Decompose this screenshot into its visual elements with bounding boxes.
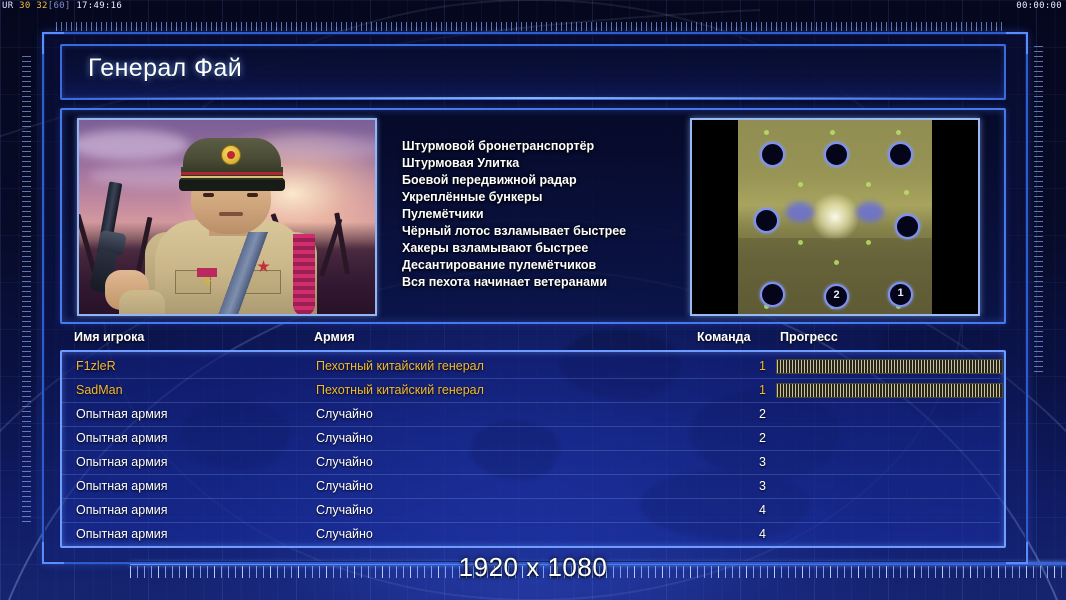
player-army: Случайно bbox=[316, 522, 373, 546]
portrait-aiguillette bbox=[293, 234, 315, 316]
system-clock: 17:49:16 bbox=[76, 1, 122, 11]
player-team: 1 bbox=[742, 354, 766, 378]
player-army: Случайно bbox=[316, 474, 373, 498]
portrait-hat-stripe bbox=[181, 176, 283, 178]
map-start-position[interactable]: 1 bbox=[888, 282, 913, 307]
player-name: SadMan bbox=[76, 378, 123, 402]
fps-value-2: 32 bbox=[36, 1, 47, 11]
ability-item: Вся пехота начинает ветеранами bbox=[402, 274, 702, 291]
map-start-position[interactable] bbox=[824, 142, 849, 167]
map-start-position[interactable] bbox=[895, 214, 920, 239]
map-preview[interactable]: 2 1 bbox=[690, 118, 980, 316]
map-water bbox=[786, 202, 814, 222]
map-image: 2 1 bbox=[738, 120, 932, 314]
portrait-hat-stripe bbox=[181, 172, 283, 175]
map-start-label bbox=[756, 210, 777, 231]
map-start-position[interactable] bbox=[888, 142, 913, 167]
player-army: Случайно bbox=[316, 450, 373, 474]
player-table: F1zleR Пехотный китайский генерал 1 SadM… bbox=[60, 350, 1006, 548]
map-start-position[interactable]: 2 bbox=[824, 284, 849, 309]
player-progress-bar bbox=[776, 359, 1003, 374]
hat-emblem-icon bbox=[221, 145, 241, 165]
ability-item: Укреплённые бункеры bbox=[402, 189, 702, 206]
player-name: Опытная армия bbox=[76, 522, 168, 546]
portrait-arm bbox=[119, 290, 165, 316]
title-panel: Генерал Фай bbox=[60, 44, 1006, 100]
table-row[interactable]: SadMan Пехотный китайский генерал 1 bbox=[62, 378, 1000, 402]
column-header-army: Армия bbox=[314, 330, 355, 344]
title-underline bbox=[62, 97, 1004, 99]
medal-icon bbox=[197, 268, 217, 277]
map-start-label bbox=[890, 144, 911, 165]
player-team: 2 bbox=[742, 426, 766, 450]
ability-item: Штурмовой бронетранспортёр bbox=[402, 138, 702, 155]
player-army: Случайно bbox=[316, 426, 373, 450]
player-name: F1zleR bbox=[76, 354, 116, 378]
map-start-position[interactable] bbox=[760, 282, 785, 307]
table-row[interactable]: Опытная армия Случайно 3 bbox=[62, 474, 1000, 498]
player-team: 4 bbox=[742, 498, 766, 522]
player-table-header: Имя игрока Армия Команда Прогресс bbox=[62, 330, 1002, 350]
main-frame: Генерал Фай bbox=[42, 32, 1028, 564]
map-start-position[interactable] bbox=[754, 208, 779, 233]
map-start-label bbox=[897, 216, 918, 237]
fps-prefix: UR bbox=[2, 1, 13, 11]
ability-item: Штурмовая Улитка bbox=[402, 155, 702, 172]
ability-list-items: Штурмовой бронетранспортёр Штурмовая Ули… bbox=[402, 138, 702, 291]
player-army: Пехотный китайский генерал bbox=[316, 354, 484, 378]
player-progress-bar bbox=[776, 383, 1003, 398]
table-row[interactable]: Опытная армия Случайно 3 bbox=[62, 450, 1000, 474]
player-name: Опытная армия bbox=[76, 450, 168, 474]
ability-item: Десантирование пулемётчиков bbox=[402, 257, 702, 274]
player-name: Опытная армия bbox=[76, 474, 168, 498]
table-row[interactable]: Опытная армия Случайно 2 bbox=[62, 426, 1000, 450]
table-row[interactable]: Опытная армия Случайно 2 bbox=[62, 402, 1000, 426]
portrait-mouth bbox=[219, 212, 243, 216]
ability-item: Боевой передвижной радар bbox=[402, 172, 702, 189]
portrait-eye bbox=[203, 193, 214, 197]
player-team: 1 bbox=[742, 378, 766, 402]
player-army: Пехотный китайский генерал bbox=[316, 378, 484, 402]
map-start-label: 2 bbox=[826, 286, 847, 307]
portrait-eye bbox=[247, 193, 258, 197]
map-prop bbox=[866, 182, 871, 187]
resolution-overlay: 1920 x 1080 bbox=[0, 552, 1066, 583]
map-prop bbox=[798, 182, 803, 187]
general-portrait bbox=[77, 118, 377, 316]
player-army: Случайно bbox=[316, 402, 373, 426]
map-start-label bbox=[826, 144, 847, 165]
page-title: Генерал Фай bbox=[88, 54, 242, 83]
fps-value: 30 bbox=[19, 1, 30, 11]
player-name: Опытная армия bbox=[76, 498, 168, 522]
map-start-label bbox=[762, 284, 783, 305]
table-row[interactable]: Опытная армия Случайно 4 bbox=[62, 522, 1000, 546]
game-screen: UR 30 32[60] 17:49:16 00:00:00 Генерал Ф… bbox=[0, 0, 1066, 600]
column-header-name: Имя игрока bbox=[74, 330, 144, 344]
map-start-label bbox=[762, 144, 783, 165]
ability-item: Пулемётчики bbox=[402, 206, 702, 223]
map-prop bbox=[798, 240, 803, 245]
ability-list: Штурмовой бронетранспортёр Штурмовая Ули… bbox=[402, 138, 702, 291]
player-team: 3 bbox=[742, 450, 766, 474]
column-header-progress: Прогресс bbox=[780, 330, 838, 344]
status-bar: UR 30 32[60] 17:49:16 00:00:00 bbox=[0, 0, 1066, 13]
map-prop bbox=[834, 260, 839, 265]
player-team: 2 bbox=[742, 402, 766, 426]
player-army: Случайно bbox=[316, 498, 373, 522]
map-prop bbox=[866, 240, 871, 245]
player-name: Опытная армия bbox=[76, 426, 168, 450]
frame-corner-top-right bbox=[1006, 32, 1028, 54]
map-prop bbox=[896, 130, 901, 135]
map-prop bbox=[904, 190, 909, 195]
map-water bbox=[856, 202, 884, 222]
general-info-panel: Штурмовой бронетранспортёр Штурмовая Ули… bbox=[60, 108, 1006, 324]
map-prop bbox=[764, 130, 769, 135]
player-team: 3 bbox=[742, 474, 766, 498]
map-start-position[interactable] bbox=[760, 142, 785, 167]
ability-item: Чёрный лотос взламывает быстрее bbox=[402, 223, 702, 240]
match-timer: 00:00:00 bbox=[1016, 0, 1062, 13]
table-row[interactable]: F1zleR Пехотный китайский генерал 1 bbox=[62, 354, 1000, 378]
column-header-team: Команда bbox=[697, 330, 751, 344]
map-start-label: 1 bbox=[890, 284, 911, 305]
player-name: Опытная армия bbox=[76, 402, 168, 426]
ability-item: Хакеры взламывают быстрее bbox=[402, 240, 702, 257]
fps-readout: UR 30 32[60] 17:49:16 bbox=[2, 0, 122, 13]
table-row[interactable]: Опытная армия Случайно 4 bbox=[62, 498, 1000, 522]
map-prop bbox=[830, 130, 835, 135]
fps-cap: [60] bbox=[48, 1, 71, 11]
player-team: 4 bbox=[742, 522, 766, 546]
